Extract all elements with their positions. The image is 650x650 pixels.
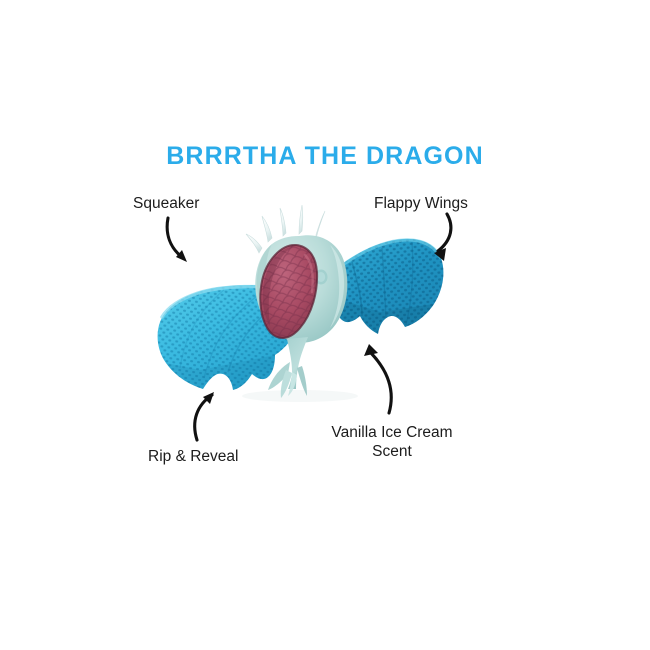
product-photo — [0, 0, 650, 650]
page-title: BRRRTHA THE DRAGON — [0, 141, 650, 171]
callout-label-vanilla-scent: Vanilla Ice Cream Scent — [326, 423, 458, 461]
dragon-right-wing — [333, 239, 444, 334]
product-infographic: BRRRTHA THE DRAGON Squeaker Flappy Wings… — [0, 0, 650, 650]
callout-label-flappy-wings: Flappy Wings — [374, 194, 468, 213]
callout-label-rip-reveal: Rip & Reveal — [148, 447, 238, 466]
callout-label-squeaker: Squeaker — [133, 194, 199, 213]
